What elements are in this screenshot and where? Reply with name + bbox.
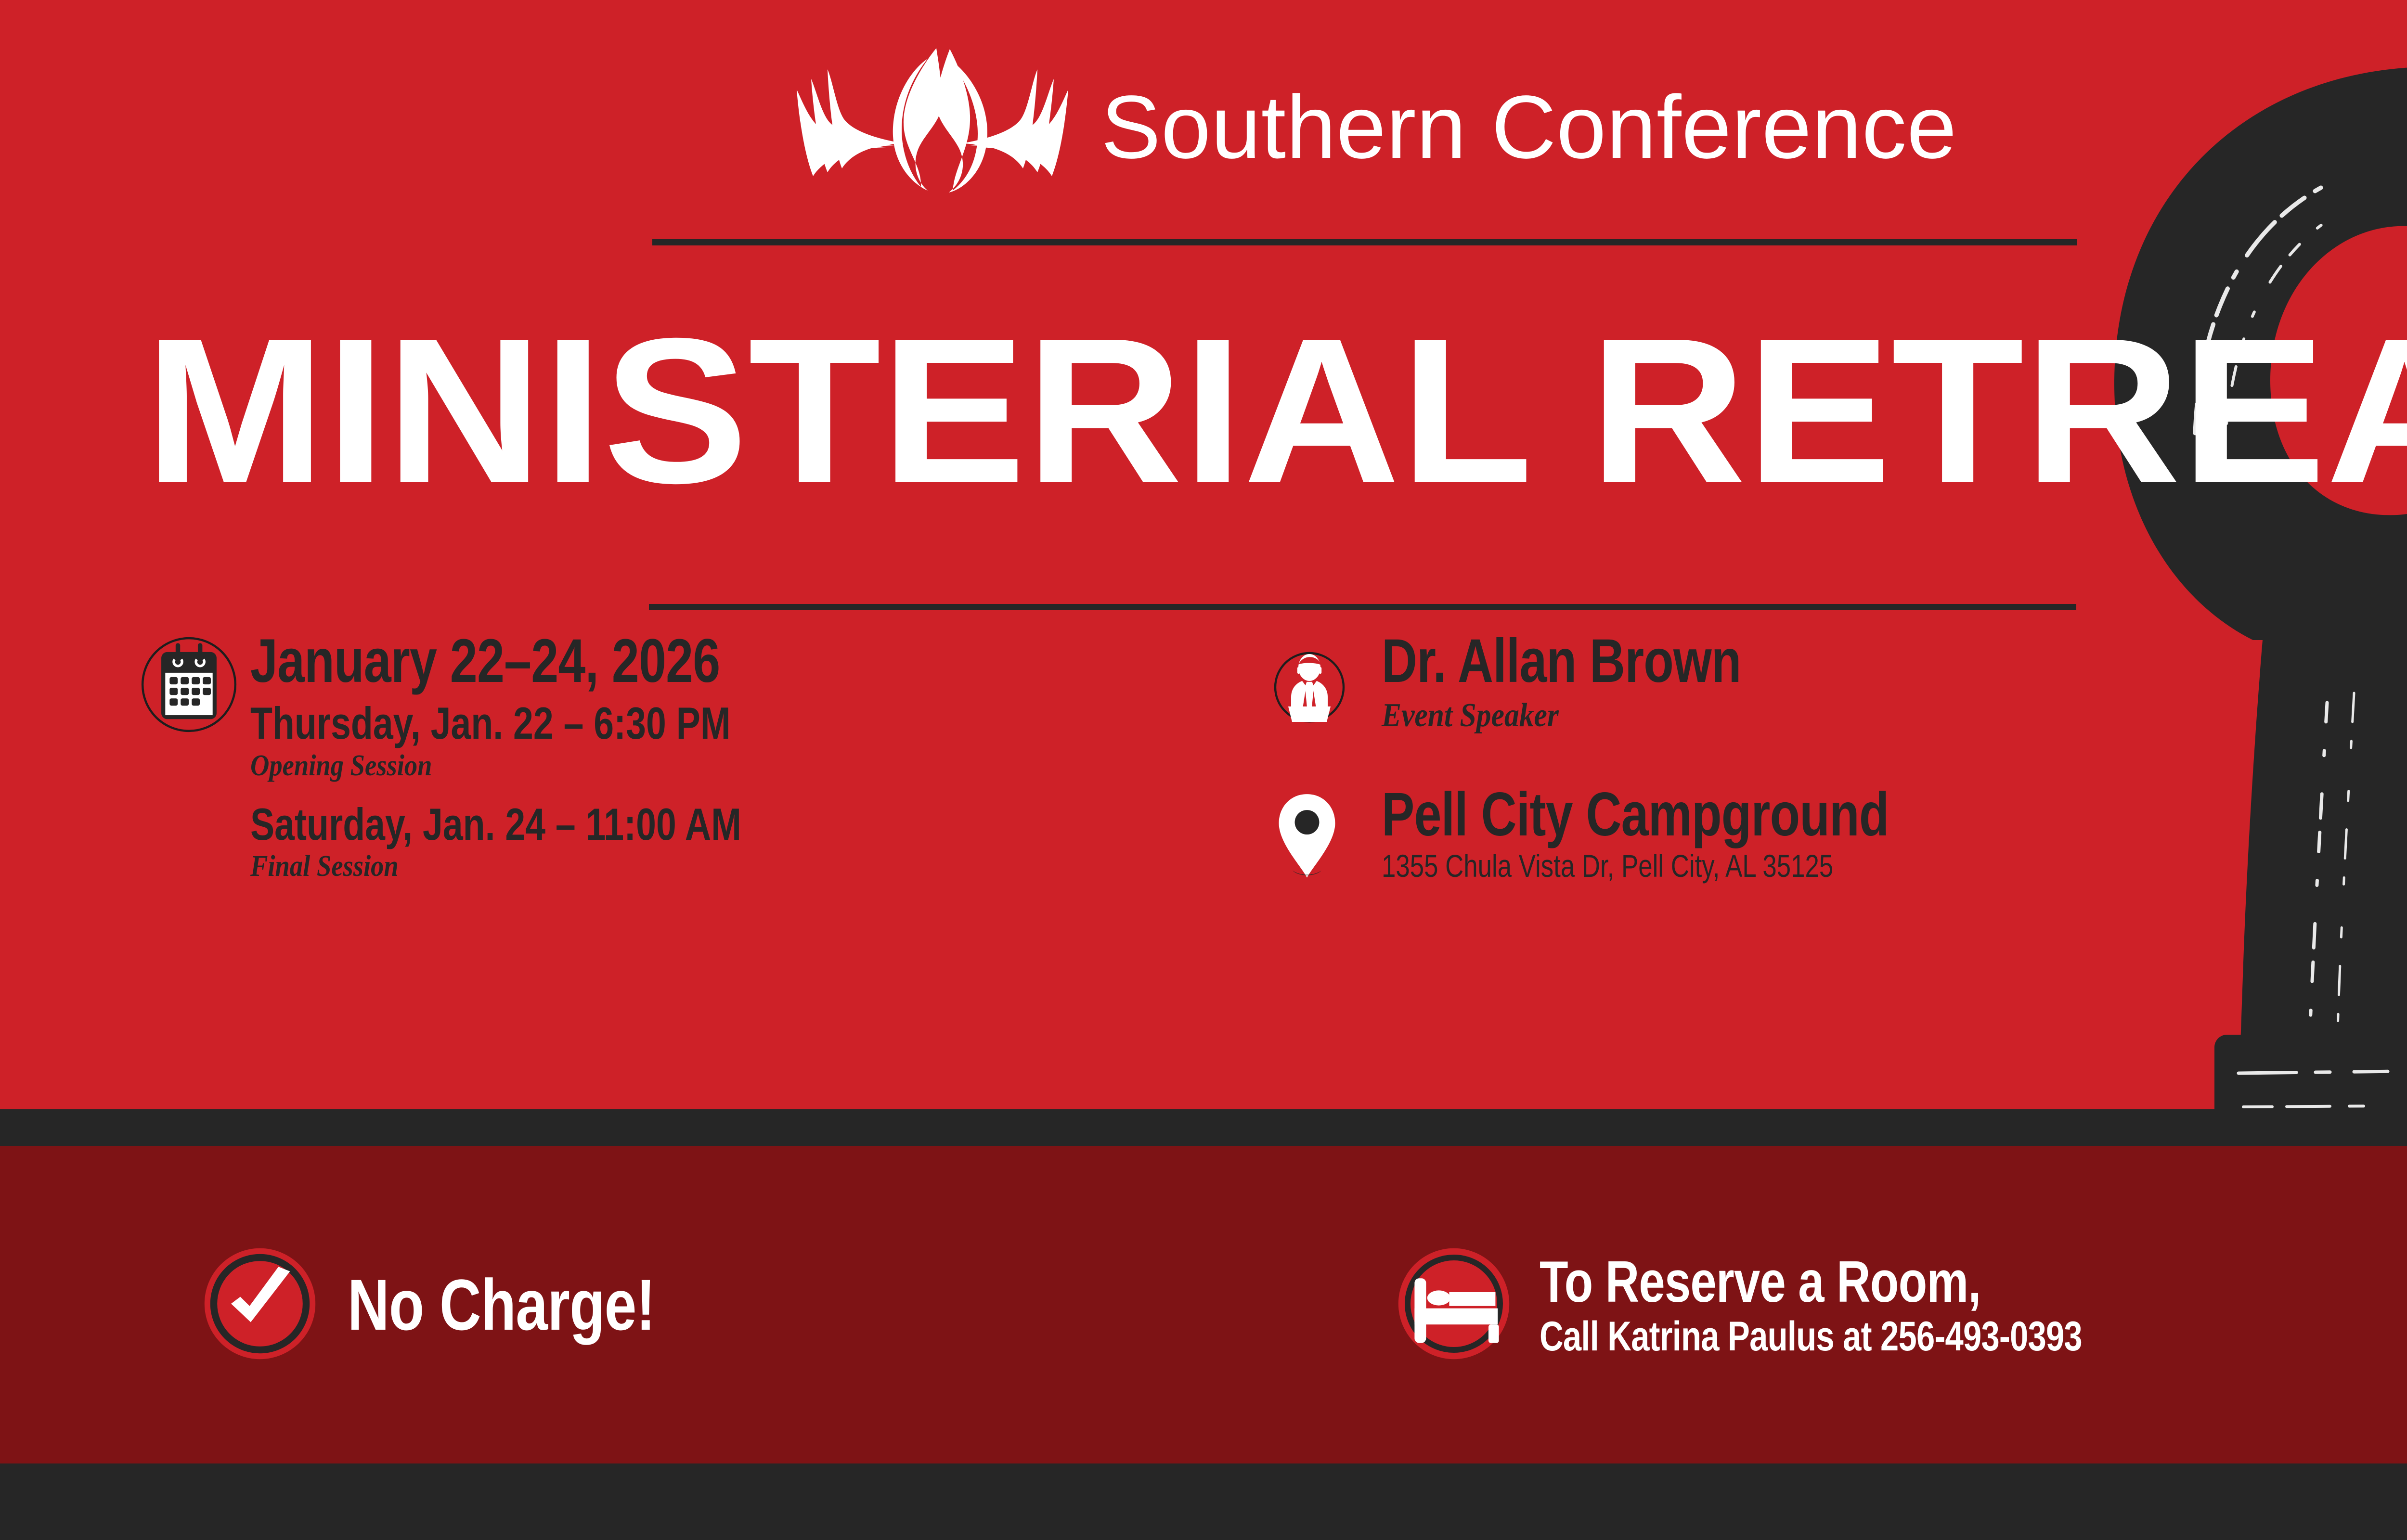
session-2-line: Saturday, Jan. 24 – 11:00 AM (250, 801, 1048, 848)
footer-content: No Charge! To Reserve a Room, (0, 1146, 2407, 1463)
ministerial-retreat-flyer: Southern Conference MINISTERIAL RETREAT (0, 0, 2407, 1540)
podium-speaker-icon (1261, 630, 1382, 738)
reservation-line-2: Call Katrina Paulus at 256-493-0393 (1540, 1316, 2082, 1357)
checkmark-circle-icon (202, 1246, 318, 1364)
speaker-role: Event Speaker (1382, 698, 2377, 733)
divider-bottom (649, 604, 2076, 610)
date-block: January 22–24, 2026 Thursday, Jan. 22 – … (140, 630, 1247, 883)
session-2-label: Final Session (250, 851, 1127, 882)
page-title-text: MINISTERIAL RETREAT (144, 303, 2407, 510)
divider-band-upper (0, 1109, 2407, 1146)
location-name: Pell City Campground (1382, 784, 2287, 846)
divider-band-lower (0, 1463, 2407, 1540)
price-label: No Charge! (348, 1269, 655, 1341)
price-block: No Charge! (202, 1146, 732, 1463)
session-1-label: Opening Session (250, 750, 1127, 782)
reservation-block: To Reserve a Room, Call Katrina Paulus a… (1396, 1146, 2218, 1463)
session-1-line: Thursday, Jan. 22 – 6:30 PM (250, 700, 1048, 747)
divider-top (652, 239, 2077, 245)
bed-icon (1396, 1246, 1512, 1364)
org-name: Southern Conference (1101, 83, 1957, 172)
event-details: January 22–24, 2026 Thursday, Jan. 22 – … (0, 630, 2407, 1092)
open-book-flame-logo-icon (783, 48, 1082, 207)
speaker-name: Dr. Allan Brown (1382, 630, 2287, 692)
speaker-location-block: Dr. Allan Brown Event Speaker Pell City … (1261, 630, 2407, 885)
map-pin-icon (1261, 784, 1382, 885)
brand-header: Southern Conference (0, 46, 2407, 209)
location-address: 1355 Chula Vista Dr, Pell City, AL 35125 (1382, 849, 2287, 883)
page-title: MINISTERIAL RETREAT (144, 303, 2407, 510)
reservation-line-1: To Reserve a Room, (1540, 1252, 2082, 1311)
date-heading: January 22–24, 2026 (250, 630, 1048, 692)
calendar-icon (140, 630, 250, 736)
